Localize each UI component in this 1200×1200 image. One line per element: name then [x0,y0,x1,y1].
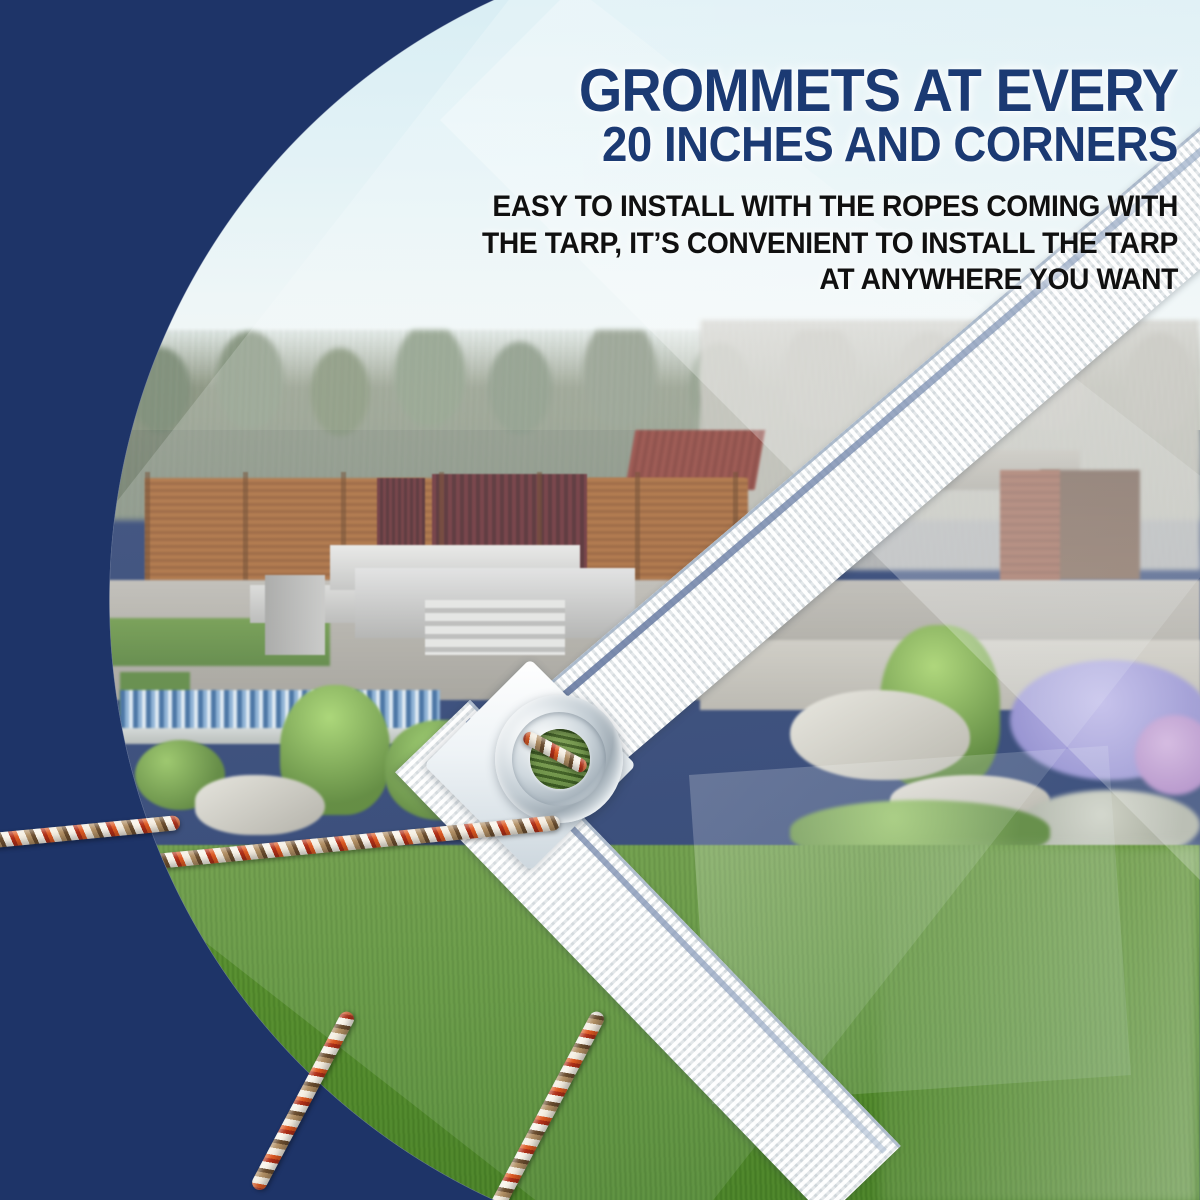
headline: GROMMETS AT EVERY 20 INCHES AND CORNERS [389,60,1178,171]
subcopy-line-2: THE TARP, IT’S CONVENIENT TO INSTALL THE… [381,226,1178,263]
subcopy-line-1: EASY TO INSTALL WITH THE ROPES COMING WI… [381,189,1178,226]
headline-line-1: GROMMETS AT EVERY [389,60,1178,121]
marketing-copy: GROMMETS AT EVERY 20 INCHES AND CORNERS … [330,60,1190,299]
subcopy: EASY TO INSTALL WITH THE ROPES COMING WI… [381,189,1178,299]
product-banner: GROMMETS AT EVERY 20 INCHES AND CORNERS … [0,0,1200,1200]
headline-line-2: 20 INCHES AND CORNERS [389,121,1178,171]
subcopy-line-3: AT ANYWHERE YOU WANT [381,262,1178,299]
